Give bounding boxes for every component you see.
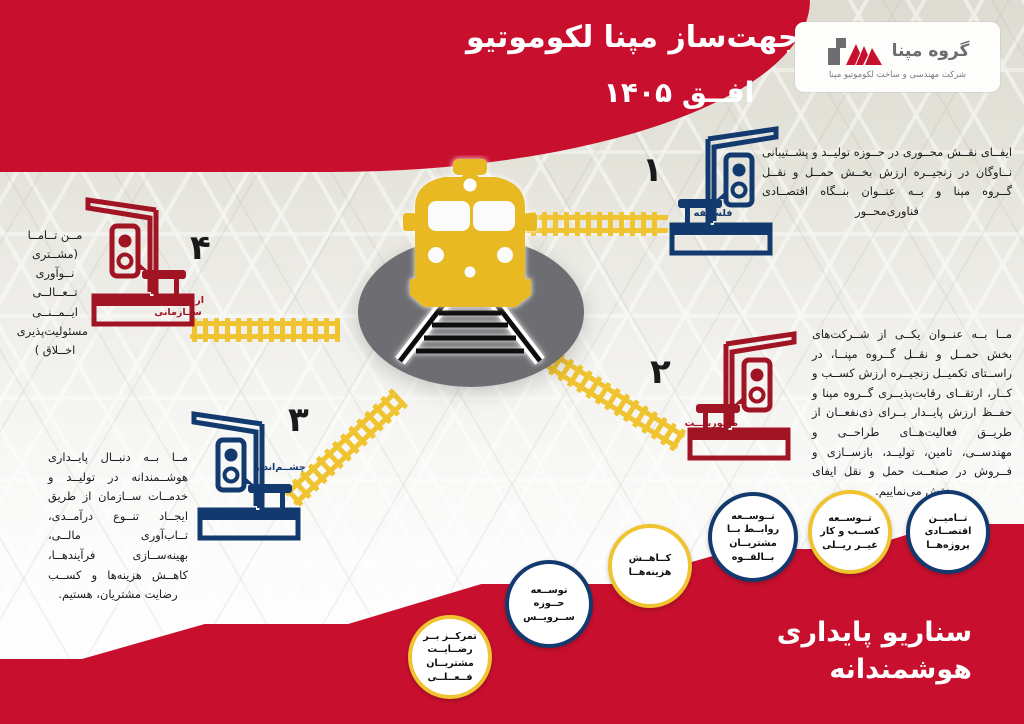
scenario-circle-6[interactable]: تــامیــناقتصــادیپروژه‌هــا — [906, 490, 990, 574]
scenario-circle-2[interactable]: توســعهحــوزهســرویــس — [505, 560, 593, 648]
logo-wordmark: گروه مپنا — [892, 41, 970, 61]
scenario-circle-label: تــوســعهکســب و کارغیــر ریــلی — [820, 512, 879, 553]
scenario-title: سناریو پایداریهوشمندانه — [777, 614, 972, 689]
scenario-circle-label: کــاهــشهزینه‌هــا — [629, 552, 672, 579]
scenario-circle-label: تمرکــز بــررضــایــتمشتریــانفــعــلــی — [423, 630, 477, 684]
pillar-label-2: ماموریــــت — [688, 418, 738, 430]
scenario-circle-label: تــامیــناقتصــادیپروژه‌هــا — [925, 512, 972, 553]
pillar-label-4: ارزش‌هــایســازمانی — [152, 295, 204, 319]
scenario-circle-label: توســعهحــوزهســرویــس — [523, 584, 575, 625]
pillar-number-۱: ۱ — [642, 150, 663, 190]
pillar-number-۳: ۳ — [288, 400, 309, 440]
scenario-circle-4[interactable]: تــوســعهروابــط بــامشتریــانبــالقــوه — [708, 492, 798, 582]
pillar-body-3: مــا بــه دنبــال پایــداری هوشــمندانه … — [48, 448, 188, 605]
central-locomotive-illustration — [340, 155, 600, 385]
logo-row: گروه مپنا — [826, 34, 970, 68]
scenario-circle-1[interactable]: تمرکــز بــررضــایــتمشتریــانفــعــلــی — [408, 615, 492, 699]
infographic-poster: سناریو پایداریهوشمندانه ارکان جهت‌ساز مپ… — [0, 0, 1024, 724]
scenario-circle-label: تــوســعهروابــط بــامشتریــانبــالقــوه — [727, 510, 779, 564]
scenario-circle-5[interactable]: تــوســعهکســب و کارغیــر ریــلی — [808, 490, 892, 574]
pillar-number-۲: ۲ — [650, 352, 671, 392]
scenario-circle-3[interactable]: کــاهــشهزینه‌هــا — [608, 524, 692, 608]
pillar-body-2: مــا بــه عنــوان یکــی از شــرکت‌های بخ… — [812, 325, 1012, 501]
mapna-logo-mark-icon — [826, 36, 884, 66]
signal-post-۲ — [666, 330, 806, 470]
pillar-label-3: چشــم‌انداز — [252, 462, 308, 474]
pillar-label-1: فلســفهوجــودی — [690, 208, 736, 232]
mapna-logo: گروه مپنا شرکت مهندسی و ساخت لکوموتیو مپ… — [795, 22, 1000, 92]
locomotive-body — [403, 159, 537, 307]
pillar-number-۴: ۴ — [190, 228, 211, 268]
pillar-body-1: ایفــای نقــش محــوری در حــوزه تولیــد … — [762, 143, 1012, 221]
pillar-body-4: مــن تــامــا(مشــترینــوآوریتــعــالــی… — [22, 226, 88, 360]
logo-tagline: شرکت مهندسی و ساخت لکوموتیو مپنا — [829, 70, 966, 80]
locomotive-icon — [340, 155, 600, 385]
